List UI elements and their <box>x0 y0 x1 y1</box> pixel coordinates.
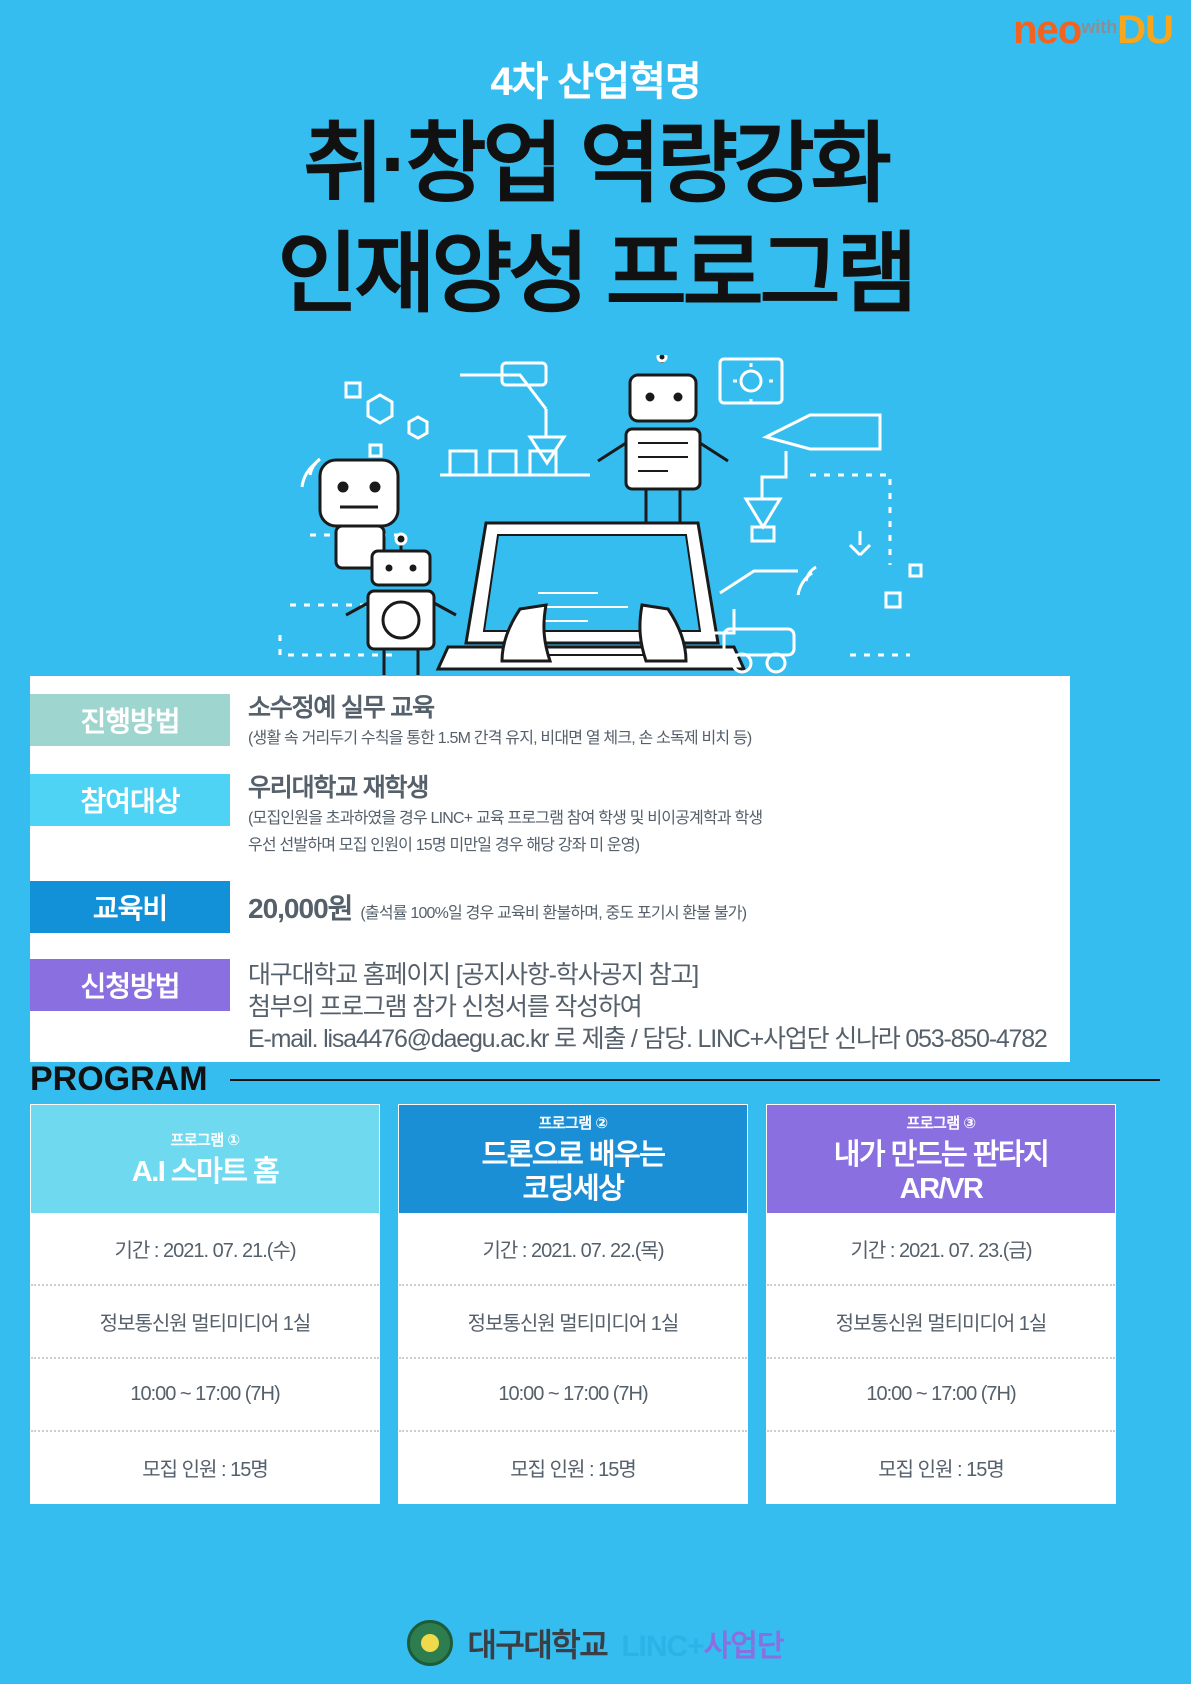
robot-center <box>598 355 728 525</box>
program-card-2-place: 정보통신원 멀티미디어 1실 <box>399 1284 747 1357</box>
footer-university-name: 대구대학교 <box>467 1620 607 1666</box>
info-apply-line-3: E-mail. lisa4476@daegu.ac.kr 로 제출 / 담당. … <box>248 1023 1070 1055</box>
program-card-3-title: 내가 만드는 판타지 <box>834 1138 1049 1172</box>
info-target-note-1: (모집인원을 초과하였을 경우 LINC+ 교육 프로그램 참여 학생 및 비이… <box>248 807 1070 830</box>
info-apply-line-1: 대구대학교 홈페이지 [공지사항-학사공지 참고] <box>248 959 1070 991</box>
program-card-1-header: 프로그램 ① A.I 스마트 홈 <box>31 1105 379 1213</box>
footer-linc-prefix: LINC+ <box>621 1630 704 1663</box>
program-card-3-capacity: 모집 인원 : 15명 <box>767 1430 1115 1503</box>
program-card-2-time: 10:00 ~ 17:00 (7H) <box>399 1357 747 1430</box>
headline-kicker: 4차 산업혁명 <box>0 62 1191 102</box>
program-card-list: 프로그램 ① A.I 스마트 홈 기간 : 2021. 07. 21.(수) 정… <box>30 1104 1160 1504</box>
info-method-note: (생활 속 거리두기 수칙을 통한 1.5M 간격 유지, 비대면 열 체크, … <box>248 727 1070 750</box>
headline-line-2: 인재양성 프로그램 <box>0 228 1191 320</box>
info-fee-note: (출석률 100%일 경우 교육비 환불하며, 중도 포기시 환불 불가) <box>360 899 746 923</box>
program-card-2-kicker: 프로그램 ② <box>538 1112 607 1133</box>
program-card-2-header: 프로그램 ② 드론으로 배우는 코딩세상 <box>399 1105 747 1213</box>
info-row-target: 참여대상 우리대학교 재학생 (모집인원을 초과하였을 경우 LINC+ 교육 … <box>30 774 1070 857</box>
program-heading-label: PROGRAM <box>30 1060 208 1099</box>
program-card-1[interactable]: 프로그램 ① A.I 스마트 홈 기간 : 2021. 07. 21.(수) 정… <box>30 1104 380 1504</box>
program-card-3[interactable]: 프로그램 ③ 내가 만드는 판타지 AR/VR 기간 : 2021. 07. 2… <box>766 1104 1116 1504</box>
info-tag-target: 참여대상 <box>30 774 230 826</box>
program-card-3-date: 기간 : 2021. 07. 23.(금) <box>767 1213 1115 1284</box>
info-method-title: 소수정예 실무 교육 <box>248 694 1070 723</box>
logo-du-text: DU <box>1117 10 1173 50</box>
program-card-2-capacity: 모집 인원 : 15명 <box>399 1430 747 1503</box>
info-apply-line-2: 첨부의 프로그램 참가 신청서를 작성하여 <box>248 991 1070 1023</box>
program-card-1-capacity: 모집 인원 : 15명 <box>31 1430 379 1503</box>
poster-headline: 4차 산업혁명 취·창업 역량강화 인재양성 프로그램 <box>0 62 1191 321</box>
info-target-title: 우리대학교 재학생 <box>248 774 1070 803</box>
footer-linc-logo: LINC+사업단 <box>621 1621 783 1665</box>
footer-linc-suffix: 사업단 <box>704 1630 784 1663</box>
program-card-3-time: 10:00 ~ 17:00 (7H) <box>767 1357 1115 1430</box>
logo-with-text: with <box>1081 18 1117 36</box>
program-card-3-place: 정보통신원 멀티미디어 1실 <box>767 1284 1115 1357</box>
footer-logos: 대구대학교 LINC+사업단 <box>0 1620 1191 1666</box>
info-tag-apply: 신청방법 <box>30 959 230 1011</box>
program-card-2-title-line-2: 코딩세상 <box>523 1172 624 1206</box>
info-row-apply: 신청방법 대구대학교 홈페이지 [공지사항-학사공지 참고] 첨부의 프로그램 … <box>30 959 1070 1055</box>
program-card-1-date: 기간 : 2021. 07. 21.(수) <box>31 1213 379 1284</box>
info-tag-method: 진행방법 <box>30 694 230 746</box>
logo-neo-text: neo <box>1013 10 1081 50</box>
program-card-2-date: 기간 : 2021. 07. 22.(목) <box>399 1213 747 1284</box>
info-row-method: 진행방법 소수정예 실무 교육 (생활 속 거리두기 수칙을 통한 1.5M 간… <box>30 694 1070 750</box>
headline-line-1: 취·창업 역량강화 <box>0 118 1191 210</box>
university-crest-icon <box>407 1620 453 1666</box>
program-heading-rule <box>230 1079 1160 1081</box>
program-card-1-title: A.I 스마트 홈 <box>132 1155 278 1189</box>
program-heading: PROGRAM <box>30 1060 1160 1099</box>
program-card-3-kicker: 프로그램 ③ <box>906 1112 975 1133</box>
program-card-1-kicker: 프로그램 ① <box>170 1129 239 1150</box>
laptop <box>438 523 744 669</box>
info-panel: 진행방법 소수정예 실무 교육 (생활 속 거리두기 수칙을 통한 1.5M 간… <box>30 676 1070 1062</box>
program-card-2-title: 드론으로 배우는 <box>482 1138 665 1172</box>
industry-4-illustration <box>250 355 950 685</box>
info-target-note-2: 우선 선발하며 모집 인원이 15명 미만일 경우 해당 강좌 미 운영) <box>248 834 1070 857</box>
info-row-fee: 교육비 20,000원 (출석률 100%일 경우 교육비 환불하며, 중도 포… <box>30 881 1070 933</box>
program-card-1-place: 정보통신원 멀티미디어 1실 <box>31 1284 379 1357</box>
info-fee-amount: 20,000원 <box>248 887 352 927</box>
info-tag-fee: 교육비 <box>30 881 230 933</box>
neo-with-du-logo: neo with DU <box>1013 10 1173 50</box>
program-card-3-header: 프로그램 ③ 내가 만드는 판타지 AR/VR <box>767 1105 1115 1213</box>
program-card-2[interactable]: 프로그램 ② 드론으로 배우는 코딩세상 기간 : 2021. 07. 22.(… <box>398 1104 748 1504</box>
program-card-3-title-line-2: AR/VR <box>900 1172 983 1206</box>
program-card-1-time: 10:00 ~ 17:00 (7H) <box>31 1357 379 1430</box>
